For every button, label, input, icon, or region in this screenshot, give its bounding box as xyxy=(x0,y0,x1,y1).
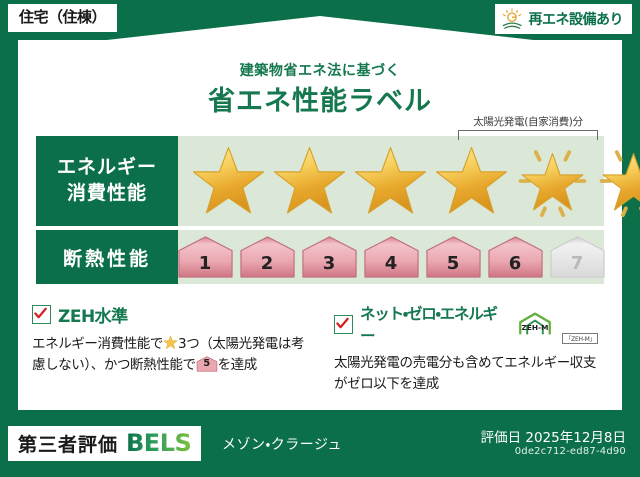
star-filled xyxy=(352,143,429,219)
insulation-grade-label: 4 xyxy=(385,253,398,279)
zeh-checkbox[interactable] xyxy=(32,305,51,324)
insulation-grade-label: 5 xyxy=(447,253,460,279)
star-rating xyxy=(178,136,604,226)
insulation-performance-row: 断熱性能 xyxy=(36,230,604,284)
criterion-net-zero-header: ネット・ゼロ・エネルギー ZEH-M 「ZEH-M」 xyxy=(334,302,598,346)
svg-text:ZEH-M: ZEH-M xyxy=(522,323,549,332)
inline-grade-label: 5 xyxy=(196,356,218,372)
renewable-badge-label: 再エネ設備あり xyxy=(529,9,624,29)
record-id: 0de2c712-ed87-4d90 xyxy=(515,446,626,457)
insulation-grade-label: 3 xyxy=(323,253,336,279)
criterion-zeh-header: ZEH水準 xyxy=(32,302,310,327)
evaluation-date-label: 評価日 xyxy=(481,430,522,446)
insulation-grade-label: 2 xyxy=(261,253,274,279)
star-filled-solar xyxy=(595,143,640,219)
star-filled xyxy=(190,143,267,219)
check-icon xyxy=(336,317,349,330)
inline-grade-badge: 5 xyxy=(196,356,218,372)
star-filled xyxy=(433,143,510,219)
solar-annotation-label: 太陽光発電(自家消費)分 xyxy=(458,114,598,129)
net-zero-checkbox[interactable] xyxy=(334,315,353,334)
check-icon xyxy=(34,307,47,320)
criterion-zeh-text-post: を達成 xyxy=(218,357,257,373)
insulation-performance-value: 1 2 3 xyxy=(178,230,604,284)
energy-performance-key: エネルギー 消費性能 xyxy=(36,136,178,226)
criterion-net-zero: ネット・ゼロ・エネルギー ZEH-M 「ZEH-M」 太陽光発電の売電分も含めて… xyxy=(320,302,608,394)
zeh-m-logo-caption: 「ZEH-M」 xyxy=(562,333,598,344)
energy-performance-value: 太陽光発電(自家消費)分 xyxy=(178,136,604,226)
sun-icon xyxy=(501,8,525,30)
evaluation-date: 評価日 2025年12月8日 xyxy=(481,426,626,446)
energy-performance-row: エネルギー 消費性能 太陽光発電(自家消費)分 xyxy=(36,136,604,226)
criterion-net-zero-body: 太陽光発電の売電分も含めてエネルギー収支がゼロ以下を達成 xyxy=(334,353,598,395)
star-filled-solar xyxy=(514,143,591,219)
insulation-grade-6: 6 xyxy=(486,235,545,279)
insulation-grade-4: 4 xyxy=(362,235,421,279)
criteria-section: ZEH水準 エネルギー消費性能で3つ（太陽光発電は考慮しない）、かつ断熱性能で5… xyxy=(32,302,608,394)
inline-star-icon xyxy=(163,335,178,350)
insulation-grade-7: 7 xyxy=(548,235,607,279)
criterion-zeh-title: ZEH水準 xyxy=(58,302,128,327)
insulation-grade-2: 2 xyxy=(238,235,297,279)
criterion-zeh-text-pre: エネルギー消費性能で xyxy=(32,336,163,352)
insulation-performance-key: 断熱性能 xyxy=(36,230,178,284)
energy-key-line2: 消費性能 xyxy=(57,181,157,207)
bels-logo: BELS xyxy=(126,429,191,457)
criterion-zeh-body: エネルギー消費性能で3つ（太陽光発電は考慮しない）、かつ断熱性能で5を達成 xyxy=(32,334,310,376)
insulation-grade-3: 3 xyxy=(300,235,359,279)
label-body: 建築物省エネ法に基づく 省エネ性能ラベル エネルギー 消費性能 太陽光発電(自家… xyxy=(18,40,622,410)
bels-mark-box: 第三者評価 BELS xyxy=(8,426,201,461)
insulation-grade-scale: 1 2 3 xyxy=(178,230,604,284)
insulation-grade-label: 1 xyxy=(199,253,212,279)
energy-performance-label: 住宅（住棟） 再エネ設備あり 建築物省エネ法に基づく 省エネ性能ラベル エネル xyxy=(0,0,640,477)
label-title: 省エネ性能ラベル xyxy=(18,79,622,118)
zeh-m-logo-icon: ZEH-M xyxy=(515,311,555,337)
insulation-grade-label: 7 xyxy=(571,253,584,279)
building-name: メゾン・クラージュ xyxy=(222,434,342,454)
third-party-label: 第三者評価 xyxy=(18,430,118,457)
housing-type-badge: 住宅（住棟） xyxy=(8,4,117,32)
star-filled xyxy=(271,143,348,219)
label-subtitle: 建築物省エネ法に基づく xyxy=(18,60,622,80)
insulation-grade-label: 6 xyxy=(509,253,522,279)
label-footer: 第三者評価 BELS メゾン・クラージュ 評価日 2025年12月8日 0de2… xyxy=(0,414,640,477)
criterion-net-zero-title: ネット・ゼロ・エネルギー xyxy=(360,302,510,346)
energy-key-line1: エネルギー xyxy=(57,155,157,181)
renewable-equipment-badge: 再エネ設備あり xyxy=(495,4,633,34)
evaluation-date-value: 2025年12月8日 xyxy=(525,430,626,446)
criterion-zeh: ZEH水準 エネルギー消費性能で3つ（太陽光発電は考慮しない）、かつ断熱性能で5… xyxy=(32,302,320,394)
insulation-grade-5: 5 xyxy=(424,235,483,279)
insulation-grade-1: 1 xyxy=(176,235,235,279)
